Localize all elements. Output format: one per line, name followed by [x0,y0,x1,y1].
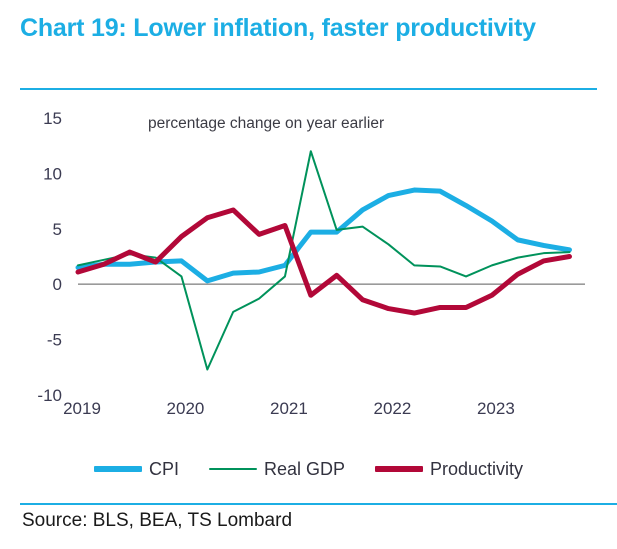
data-series-group [78,151,569,369]
legend-swatch-icon [94,466,142,472]
legend-label: Real GDP [264,459,345,480]
x-tick-label: 2019 [63,399,101,416]
line-chart: 151050-5-10 20192020202120222023 [0,96,617,416]
x-axis-ticks: 20192020202120222023 [63,399,515,416]
title-block: Chart 19: Lower inflation, faster produc… [20,14,597,44]
y-tick-label: -5 [47,331,62,350]
chart-plot-area: percentage change on year earlier 151050… [0,96,617,416]
chart-page: Chart 19: Lower inflation, faster produc… [0,0,617,549]
y-tick-label: -10 [37,386,62,405]
chart-legend: CPIReal GDPProductivity [0,452,617,486]
source-divider [20,503,617,505]
y-axis-ticks: 151050-5-10 [37,109,62,405]
legend-swatch-icon [209,468,257,470]
legend-swatch-icon [375,466,423,472]
x-tick-label: 2023 [477,399,515,416]
series-line-cpi [78,190,569,281]
title-divider [20,88,597,90]
y-tick-label: 5 [53,220,62,239]
x-tick-label: 2021 [270,399,308,416]
x-tick-label: 2020 [167,399,205,416]
legend-label: CPI [149,459,179,480]
legend-item-cpi[interactable]: CPI [94,459,179,480]
chart-annotation: percentage change on year earlier [148,115,384,133]
source-note: Source: BLS, BEA, TS Lombard [22,510,292,532]
y-tick-label: 15 [43,109,62,128]
y-tick-label: 10 [43,164,62,183]
legend-label: Productivity [430,459,523,480]
x-tick-label: 2022 [373,399,411,416]
legend-item-productivity[interactable]: Productivity [375,459,523,480]
y-tick-label: 0 [53,275,62,294]
page-title: Chart 19: Lower inflation, faster produc… [20,14,597,44]
legend-item-real-gdp[interactable]: Real GDP [209,459,345,480]
